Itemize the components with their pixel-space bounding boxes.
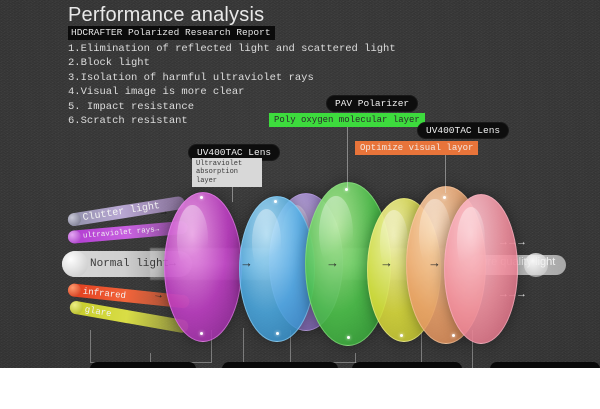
lens-dot — [443, 196, 446, 199]
flow-arrow: → — [380, 255, 393, 270]
list-item: 1.Elimination of reflected light and sca… — [68, 42, 396, 56]
lens-dot — [452, 334, 455, 337]
callout-leader-line — [445, 155, 446, 193]
beam-label: infrared — [82, 286, 126, 300]
callout-tag-poly-oxygen-molecular-layer: Poly oxygen molecular layer — [269, 113, 425, 127]
callout-tag-ultraviolet-absorption-layer: Ultraviolet absorption layer — [192, 158, 262, 187]
flow-arrow: → — [326, 255, 339, 270]
lens-dot — [276, 332, 279, 335]
beam-arrow-clutter: → — [157, 205, 170, 219]
list-item: 2.Block light — [68, 56, 396, 70]
beam-label: glare — [84, 304, 112, 319]
callout-leader-line — [347, 127, 348, 189]
screenshot-root: Performance analysis HDCRAFTER Polarized… — [0, 0, 600, 409]
lens-dot — [400, 334, 403, 337]
lens-dot — [200, 196, 203, 199]
lens-magenta — [164, 192, 242, 342]
beam-label: ultraviolet rays→ — [83, 226, 160, 241]
callout-pill-uv400-right[interactable]: UV400TAC Lens — [417, 122, 509, 139]
white-page-strip — [0, 368, 600, 409]
callout-tag-optimize-visual-layor: Optimize visual layor — [355, 141, 478, 155]
report-subtitle-badge: HDCRAFTER Polarized Research Report — [68, 26, 275, 40]
callout-pill-pav-polarizer[interactable]: PAV Polarizer — [326, 95, 418, 112]
dark-panel: Performance analysis HDCRAFTER Polarized… — [0, 0, 600, 368]
flow-arrow: → — [240, 255, 253, 270]
beam-arrow-infrared: → — [152, 288, 164, 301]
beam-cap-icon — [67, 212, 82, 227]
beam-cap-icon — [62, 251, 88, 277]
lens-pink — [444, 194, 518, 344]
lens-dot — [274, 200, 277, 203]
bottom-bracket — [243, 328, 244, 366]
beam-cap-icon — [69, 300, 84, 315]
list-item: 3.Isolation of harmful ultraviolet rays — [68, 71, 396, 85]
beam-label: Normal light→ — [90, 258, 176, 270]
lens-dot — [347, 336, 350, 339]
page-title: Performance analysis — [68, 4, 264, 27]
beam-label: Clutter light — [82, 201, 161, 224]
beam-cap-icon — [67, 283, 81, 297]
beam-cap-icon — [67, 230, 81, 244]
lens-dot — [200, 332, 203, 335]
flow-arrow: → — [428, 255, 441, 270]
